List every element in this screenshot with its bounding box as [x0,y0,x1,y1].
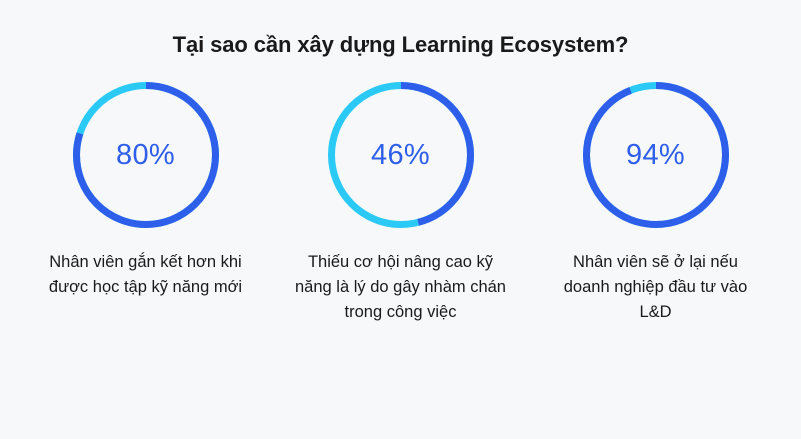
donut-chart-3: 94% [583,82,729,228]
donut-chart-1: 80% [73,82,219,228]
stats-row: 80% Nhân viên gắn kết hơn khi được học t… [0,82,801,324]
stat-item: 80% Nhân viên gắn kết hơn khi được học t… [18,82,273,300]
stat-caption: Nhân viên sẽ ở lại nếu doanh nghiệp đầu … [548,250,763,324]
donut-value-label: 80% [73,82,219,228]
donut-value-label: 46% [328,82,474,228]
donut-chart-2: 46% [328,82,474,228]
stat-caption: Thiếu cơ hội nâng cao kỹ năng là lý do g… [293,250,508,324]
stat-item: 94% Nhân viên sẽ ở lại nếu doanh nghiệp … [528,82,783,324]
infographic-slide: Tại sao cần xây dựng Learning Ecosystem?… [0,0,801,439]
donut-value-label: 94% [583,82,729,228]
page-title: Tại sao cần xây dựng Learning Ecosystem? [173,32,629,58]
stat-caption: Nhân viên gắn kết hơn khi được học tập k… [38,250,253,300]
stat-item: 46% Thiếu cơ hội nâng cao kỹ năng là lý … [273,82,528,324]
